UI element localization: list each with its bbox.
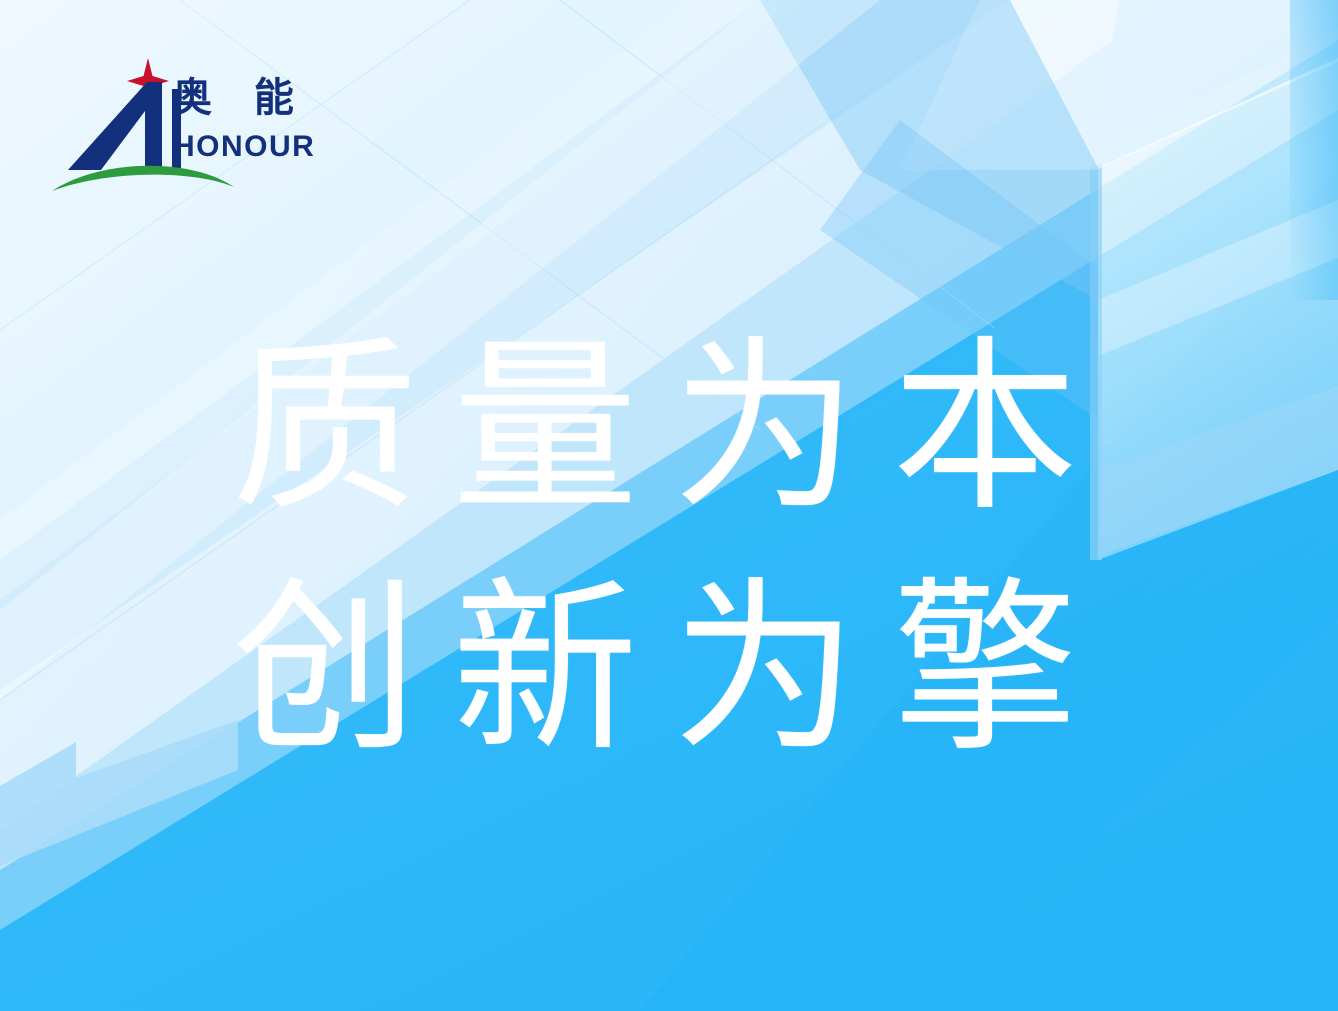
logo-chinese-name: 奥 能 xyxy=(172,78,308,118)
headline-line-2: 创新为擎 xyxy=(232,559,1132,778)
headline-block: 质量为本 创新为擎 xyxy=(232,318,1132,779)
background-right-corner xyxy=(1290,0,1338,300)
letter-a-mark xyxy=(68,82,162,170)
headline-line-1: 质量为本 xyxy=(232,318,1132,537)
poster-canvas: 奥 能 HONOUR 质量为本 创新为擎 xyxy=(0,0,1338,1011)
logo-english-name: HONOUR xyxy=(173,132,315,162)
honour-logo: 奥 能 HONOUR xyxy=(44,55,314,200)
